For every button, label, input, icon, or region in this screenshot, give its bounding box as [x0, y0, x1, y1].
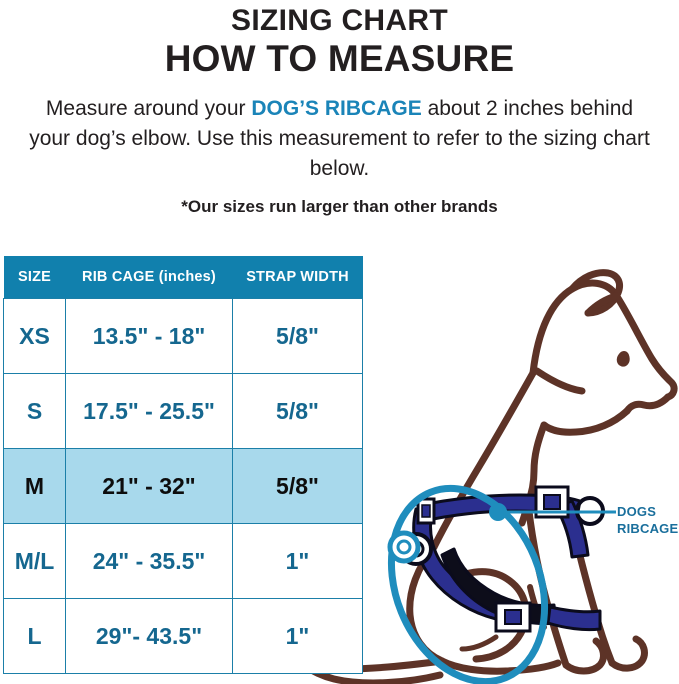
column-header-ribcage: RIB CAGE (inches)	[66, 256, 233, 299]
dog-front-leg-far	[568, 505, 612, 663]
sizing-table: SIZE RIB CAGE (inches) STRAP WIDTH XS 13…	[3, 256, 363, 674]
harness-slider-left	[418, 499, 434, 523]
dog-nose	[627, 397, 668, 411]
dog-head-top	[533, 283, 616, 373]
column-header-strap-width: STRAP WIDTH	[233, 256, 363, 299]
dog-belly-crease	[530, 587, 544, 627]
table-row: S 17.5" - 25.5" 5/8"	[4, 374, 363, 449]
dog-harness	[401, 487, 603, 631]
harness-shoulder-strap	[556, 501, 588, 557]
dog-shoulder-crease	[462, 637, 496, 649]
dog-neck-front	[528, 425, 544, 503]
tape-ring-inner	[398, 541, 410, 553]
table-row-highlighted: M 21" - 32" 5/8"	[4, 449, 363, 524]
cell-size: M	[4, 449, 66, 524]
harness-belly-strap	[548, 607, 600, 630]
dog-ear	[572, 273, 620, 313]
title-line-sizing-chart: SIZING CHART	[0, 4, 679, 38]
ribcage-callout-leader	[489, 503, 616, 521]
cell-ribcage: 17.5" - 25.5"	[66, 374, 233, 449]
harness-girth-strap	[414, 509, 502, 619]
table-body: XS 13.5" - 18" 5/8" S 17.5" - 25.5" 5/8"…	[4, 299, 363, 674]
cell-strap: 1"	[233, 524, 363, 599]
title-line-how-to-measure: HOW TO MEASURE	[0, 38, 679, 79]
dog-back	[434, 373, 533, 547]
harness-girth-dark	[442, 549, 556, 624]
harness-buckle-top	[536, 487, 568, 517]
callout-dogs-ribcage: DOGS RIBCAGE	[617, 503, 679, 537]
callout-line-1: DOGS	[617, 503, 679, 520]
cell-size: XS	[4, 299, 66, 374]
ribcage-tape-ellipse	[364, 465, 572, 684]
harness-buckle-lower	[496, 603, 530, 631]
table-row: XS 13.5" - 18" 5/8"	[4, 299, 363, 374]
cell-strap: 5/8"	[233, 449, 363, 524]
harness-top-strap	[422, 495, 580, 521]
cell-ribcage: 13.5" - 18"	[66, 299, 233, 374]
cell-ribcage: 29"- 43.5"	[66, 599, 233, 674]
callout-dot	[489, 503, 507, 521]
column-header-size: SIZE	[4, 256, 66, 299]
harness-slider-left-inner	[422, 505, 430, 517]
cell-size: M/L	[4, 524, 66, 599]
cell-ribcage: 21" - 32"	[66, 449, 233, 524]
harness-buckle-top-inner	[544, 495, 560, 509]
dog-rump	[410, 547, 442, 661]
sizing-note: *Our sizes run larger than other brands	[0, 197, 679, 217]
cell-strap: 5/8"	[233, 374, 363, 449]
harness-o-ring-inner	[409, 542, 423, 556]
intro-text-before: Measure around your	[46, 97, 251, 120]
cell-strap: 5/8"	[233, 299, 363, 374]
table-row: L 29"- 43.5" 1"	[4, 599, 363, 674]
harness-d-ring	[577, 498, 603, 524]
dog-front-leg-near	[528, 503, 566, 665]
harness-o-ring	[401, 534, 431, 564]
dog-seat	[442, 661, 558, 671]
harness-buckle-lower-inner	[505, 610, 521, 624]
dog-eye	[618, 353, 628, 366]
intro-highlight-dogs-ribcage: DOG’S RIBCAGE	[251, 97, 421, 120]
cell-strap: 1"	[233, 599, 363, 674]
page-title: SIZING CHART HOW TO MEASURE	[0, 4, 679, 79]
dog-front-paw-far	[612, 639, 644, 668]
dog-cheek	[537, 371, 582, 391]
ribcage-measure-loop	[364, 465, 572, 684]
table-row: M/L 24" - 35.5" 1"	[4, 524, 363, 599]
cell-size: S	[4, 374, 66, 449]
dog-jaw	[544, 411, 627, 432]
callout-line-2: RIBCAGE	[617, 520, 679, 537]
cell-ribcage: 24" - 35.5"	[66, 524, 233, 599]
dog-chest-top	[522, 503, 528, 523]
table-header-row: SIZE RIB CAGE (inches) STRAP WIDTH	[4, 256, 363, 299]
cell-size: L	[4, 599, 66, 674]
tape-ring	[390, 533, 418, 561]
intro-paragraph: Measure around your DOG’S RIBCAGE about …	[28, 94, 651, 184]
dog-ear-fold	[588, 296, 616, 313]
dog-muzzle-bridge	[616, 295, 674, 397]
dog-haunch	[444, 572, 526, 659]
dog-front-paw-near	[566, 641, 603, 671]
